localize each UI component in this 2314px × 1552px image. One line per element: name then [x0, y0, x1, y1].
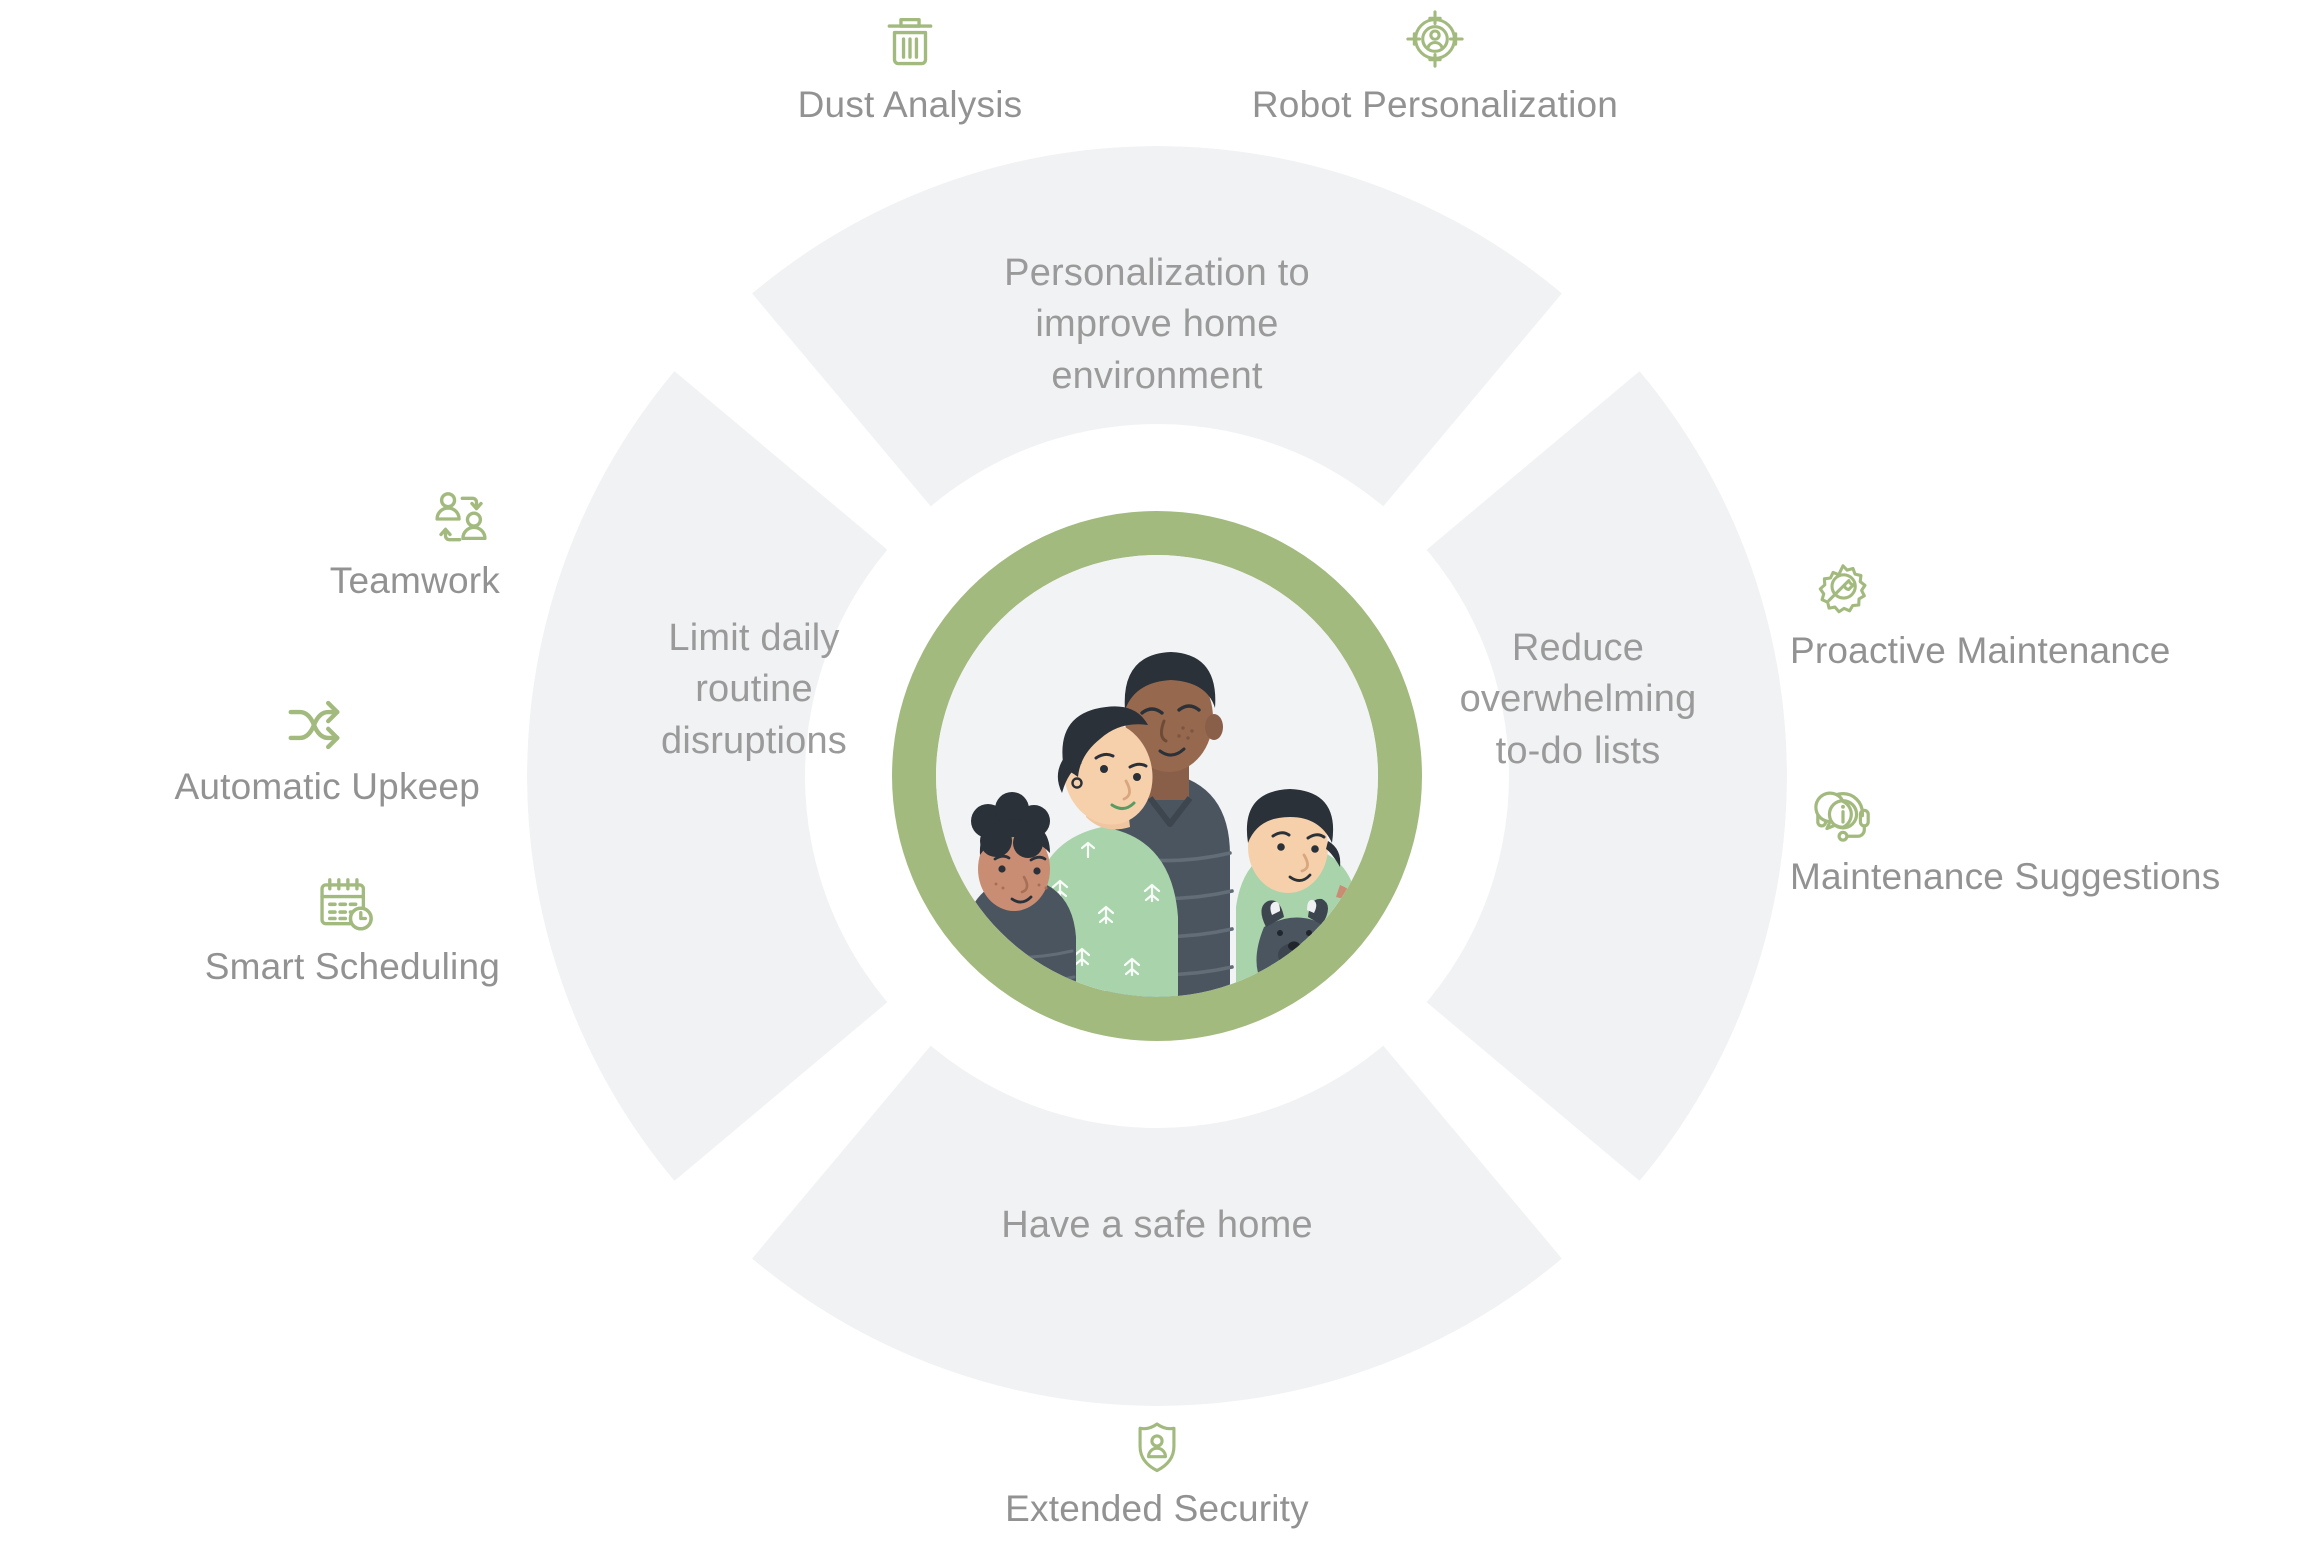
- feature-maintenance-suggestions[interactable]: Maintenance Suggestions: [1790, 782, 2314, 898]
- diagram-canvas: Personalization to improve home environm…: [0, 0, 2314, 1552]
- feature-label: Automatic Upkeep: [174, 766, 480, 808]
- shield-person-icon: [1128, 1418, 1186, 1476]
- feature-label: Smart Scheduling: [205, 946, 500, 988]
- feature-automatic-upkeep[interactable]: Automatic Upkeep: [0, 694, 480, 808]
- headset-info-icon: [1812, 782, 1874, 844]
- teamwork-icon: [430, 488, 492, 550]
- feature-label: Maintenance Suggestions: [1790, 856, 2220, 898]
- feature-label: Extended Security: [1005, 1488, 1309, 1530]
- feature-label: Dust Analysis: [798, 84, 1023, 126]
- family-illustration: [936, 555, 1378, 997]
- feature-robot-personalization[interactable]: Robot Personalization: [1210, 8, 1660, 126]
- feature-teamwork[interactable]: Teamwork: [0, 488, 500, 602]
- feature-label: Teamwork: [330, 560, 500, 602]
- gear-wrench-icon: [1812, 558, 1874, 620]
- feature-smart-scheduling[interactable]: Smart Scheduling: [0, 872, 500, 988]
- calendar-clock-icon: [313, 872, 375, 934]
- trash-icon: [879, 8, 941, 70]
- center-photo-ring: [892, 511, 1422, 1041]
- feature-proactive-maintenance[interactable]: Proactive Maintenance: [1790, 558, 2314, 672]
- feature-label: Proactive Maintenance: [1790, 630, 2171, 672]
- target-person-icon: [1404, 8, 1466, 70]
- feature-label: Robot Personalization: [1252, 84, 1618, 126]
- shuffle-icon: [283, 694, 345, 756]
- feature-dust-analysis[interactable]: Dust Analysis: [770, 8, 1050, 126]
- family-illustration-art: [936, 555, 1378, 997]
- feature-extended-security[interactable]: Extended Security: [917, 1418, 1397, 1530]
